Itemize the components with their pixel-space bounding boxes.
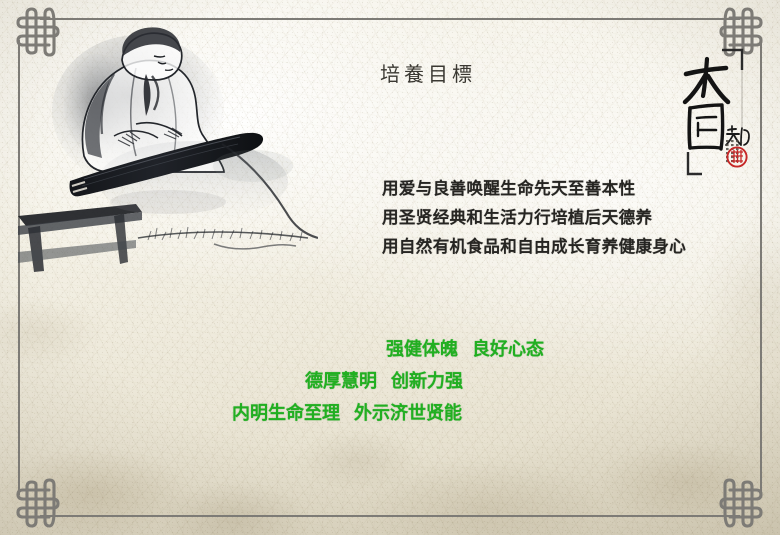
creed-line-1: 用爱与良善唤醒生命先天至善本性 — [382, 174, 712, 203]
logo-red-seal — [727, 147, 746, 166]
slide-canvas: 培養目標 用爱与良善唤醒生命先天至善本性 用圣贤经典和生活力行培植后天德养 用自… — [0, 0, 780, 535]
goal-2a: 德厚慧明 — [305, 371, 377, 391]
logo-char-tong — [689, 105, 722, 149]
logo-sub-wenhua — [726, 126, 749, 145]
logo-column-2 — [731, 140, 734, 162]
corner-lattice-knot-bottom-left — [9, 475, 63, 529]
frame-line-bottom — [40, 515, 740, 517]
goal-3a: 内明生命至理 — [232, 403, 340, 423]
creed-block: 用爱与良善唤醒生命先天至善本性 用圣贤经典和生活力行培植后天德养 用自然有机食品… — [382, 174, 712, 261]
goal-line-3: 内明生命至理外示济世贤能 — [0, 397, 780, 429]
creed-line-3: 用自然有机食品和自由成长育养健康身心 — [382, 232, 712, 261]
goal-1b: 良好心态 — [472, 339, 544, 359]
goal-line-2: 德厚慧明创新力强 — [0, 365, 780, 397]
page-title: 培養目標 — [380, 58, 476, 87]
goals-block: 强健体魄良好心态 德厚慧明创新力强 内明生命至理外示济世贤能 — [0, 333, 780, 429]
creed-line-2: 用圣贤经典和生活力行培植后天德养 — [382, 203, 712, 232]
brand-logo-datong-culture — [676, 44, 754, 180]
logo-char-da — [685, 59, 728, 102]
corner-lattice-knot-bottom-right — [716, 475, 770, 529]
goal-1a: 强健体魄 — [386, 339, 458, 359]
logo-bracket-bottom-left — [688, 152, 702, 174]
ink-painting-scholar-guqin — [18, 16, 318, 286]
goal-2b: 创新力强 — [391, 371, 463, 391]
goal-3b: 外示济世贤能 — [354, 403, 462, 423]
goal-line-1: 强健体魄良好心态 — [0, 333, 780, 365]
